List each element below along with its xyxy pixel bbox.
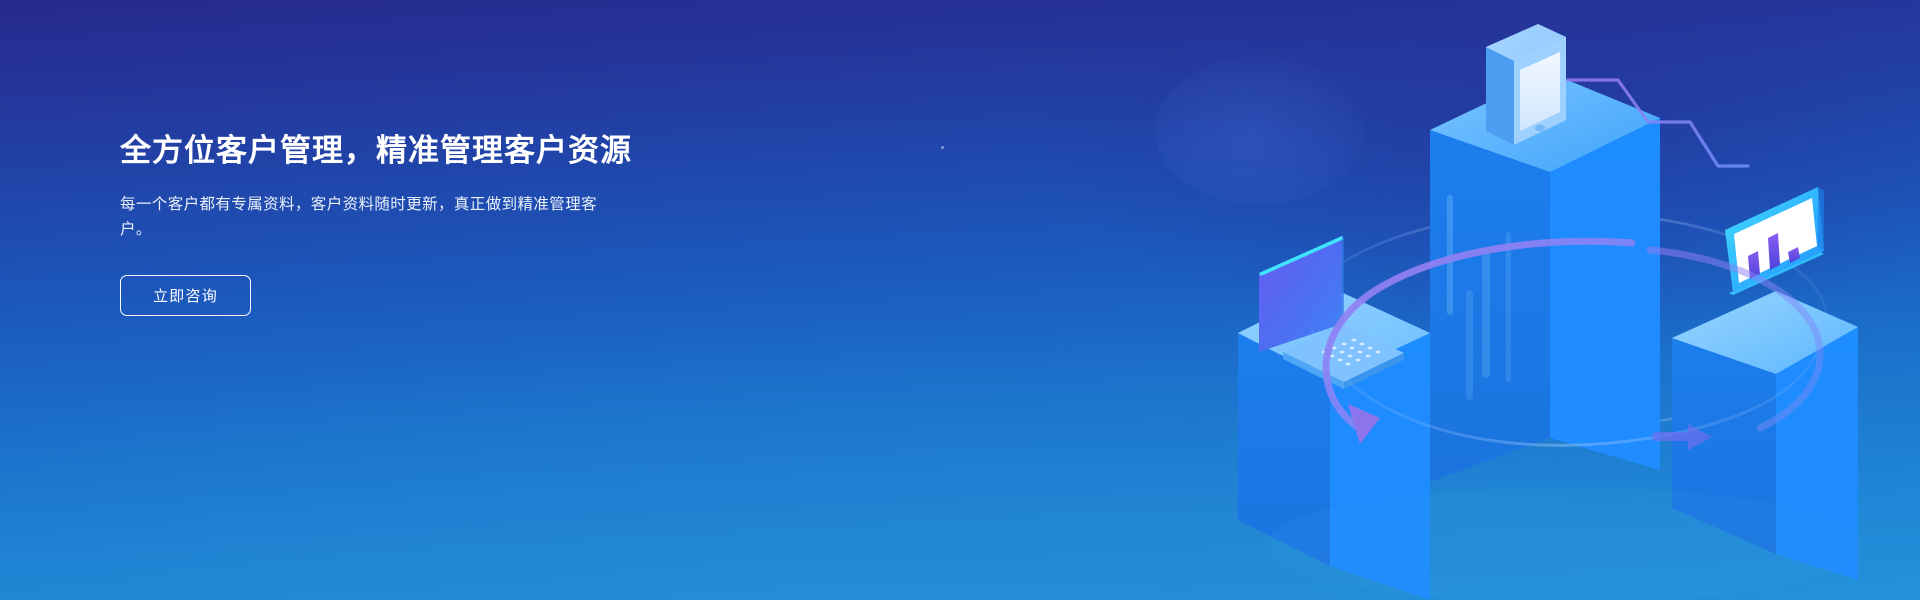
consult-now-button[interactable]: 立即咨询 (120, 275, 251, 316)
hero-illustration (1220, 0, 1920, 600)
hero-banner: 全方位客户管理，精准管理客户资源 每一个客户都有专属资料，客户资料随时更新，真正… (0, 0, 1920, 600)
background-speck (941, 146, 944, 149)
monitor-icon (1725, 187, 1824, 295)
hero-copy-block: 全方位客户管理，精准管理客户资源 每一个客户都有专属资料，客户资料随时更新，真正… (120, 132, 760, 316)
page-title: 全方位客户管理，精准管理客户资源 (120, 132, 760, 171)
hero-subtext: 每一个客户都有专属资料，客户资料随时更新，真正做到精准管理客户。 (120, 192, 602, 242)
pillar-center (1430, 73, 1660, 482)
